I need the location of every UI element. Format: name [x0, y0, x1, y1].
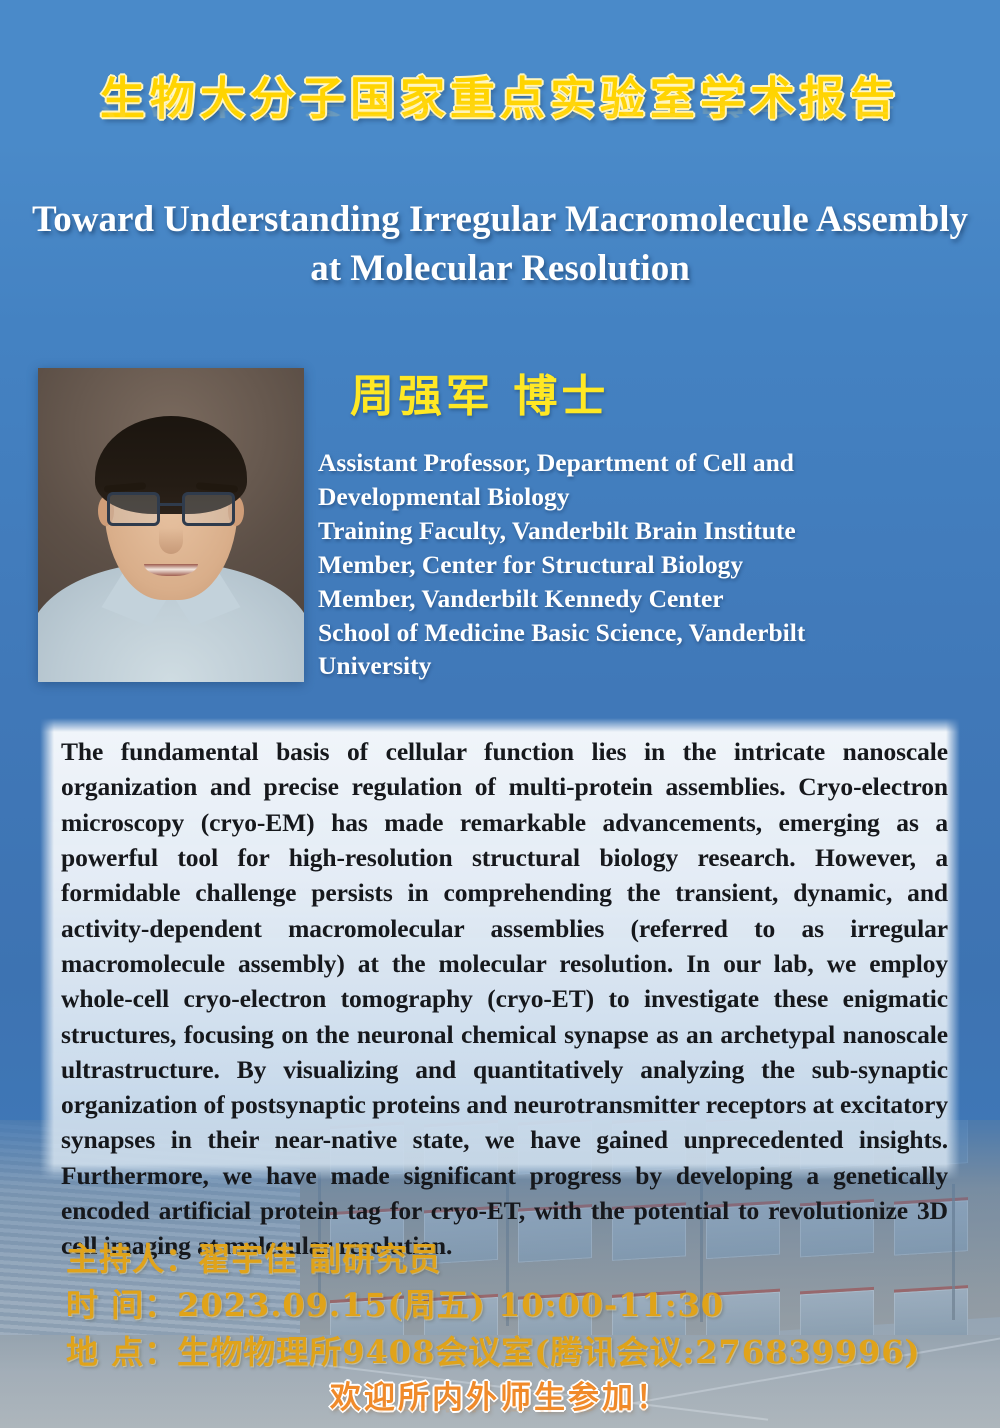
lab-banner: 生物大分子国家重点实验室学术报告 生物大分子国家重点实验室学术报告: [0, 62, 1000, 190]
speaker-photo: [38, 368, 304, 682]
affiliation-line: University: [318, 649, 978, 683]
affiliation-line: School of Medicine Basic Science, Vander…: [318, 616, 978, 650]
lab-banner-reflection: 生物大分子国家重点实验室学术报告: [0, 89, 1000, 125]
lens-right: [182, 492, 235, 526]
talk-title: Toward Understanding Irregular Macromole…: [30, 196, 970, 294]
event-host: 主持人：翟宇佳 副研究员: [66, 1236, 966, 1282]
speaker-name: 周强军 博士: [350, 360, 609, 424]
affiliation-line: Member, Vanderbilt Kennedy Center: [318, 582, 978, 616]
lens-left: [107, 492, 160, 526]
event-place: 地 点：生物物理所9408会议室(腾讯会议:276839996): [66, 1329, 966, 1375]
welcome-note-reflection: 欢迎所内外师生参加！: [0, 1395, 1000, 1418]
affiliation-line: Member, Center for Structural Biology: [318, 548, 978, 582]
seminar-poster: 生物大分子国家重点实验室学术报告 生物大分子国家重点实验室学术报告 Toward…: [0, 0, 1000, 1428]
eyeglasses-icon: [107, 492, 235, 526]
welcome-note: 欢迎所内外师生参加！ 欢迎所内外师生参加！: [0, 1372, 1000, 1428]
event-time: 时 间：2023.09.15(周五) 10:00-11:30: [66, 1282, 966, 1328]
affiliation-line: Assistant Professor, Department of Cell …: [318, 446, 978, 480]
nose: [159, 528, 183, 554]
abstract-text: The fundamental basis of cellular functi…: [61, 734, 948, 1264]
abstract-panel: The fundamental basis of cellular functi…: [40, 718, 960, 1180]
affiliation-line: Developmental Biology: [318, 480, 978, 514]
affiliation-line: Training Faculty, Vanderbilt Brain Insti…: [318, 514, 978, 548]
speaker-affiliations: Assistant Professor, Department of Cell …: [318, 446, 978, 683]
event-details: 主持人：翟宇佳 副研究员 时 间：2023.09.15(周五) 10:00-11…: [66, 1236, 966, 1375]
glasses-bridge: [160, 503, 182, 506]
